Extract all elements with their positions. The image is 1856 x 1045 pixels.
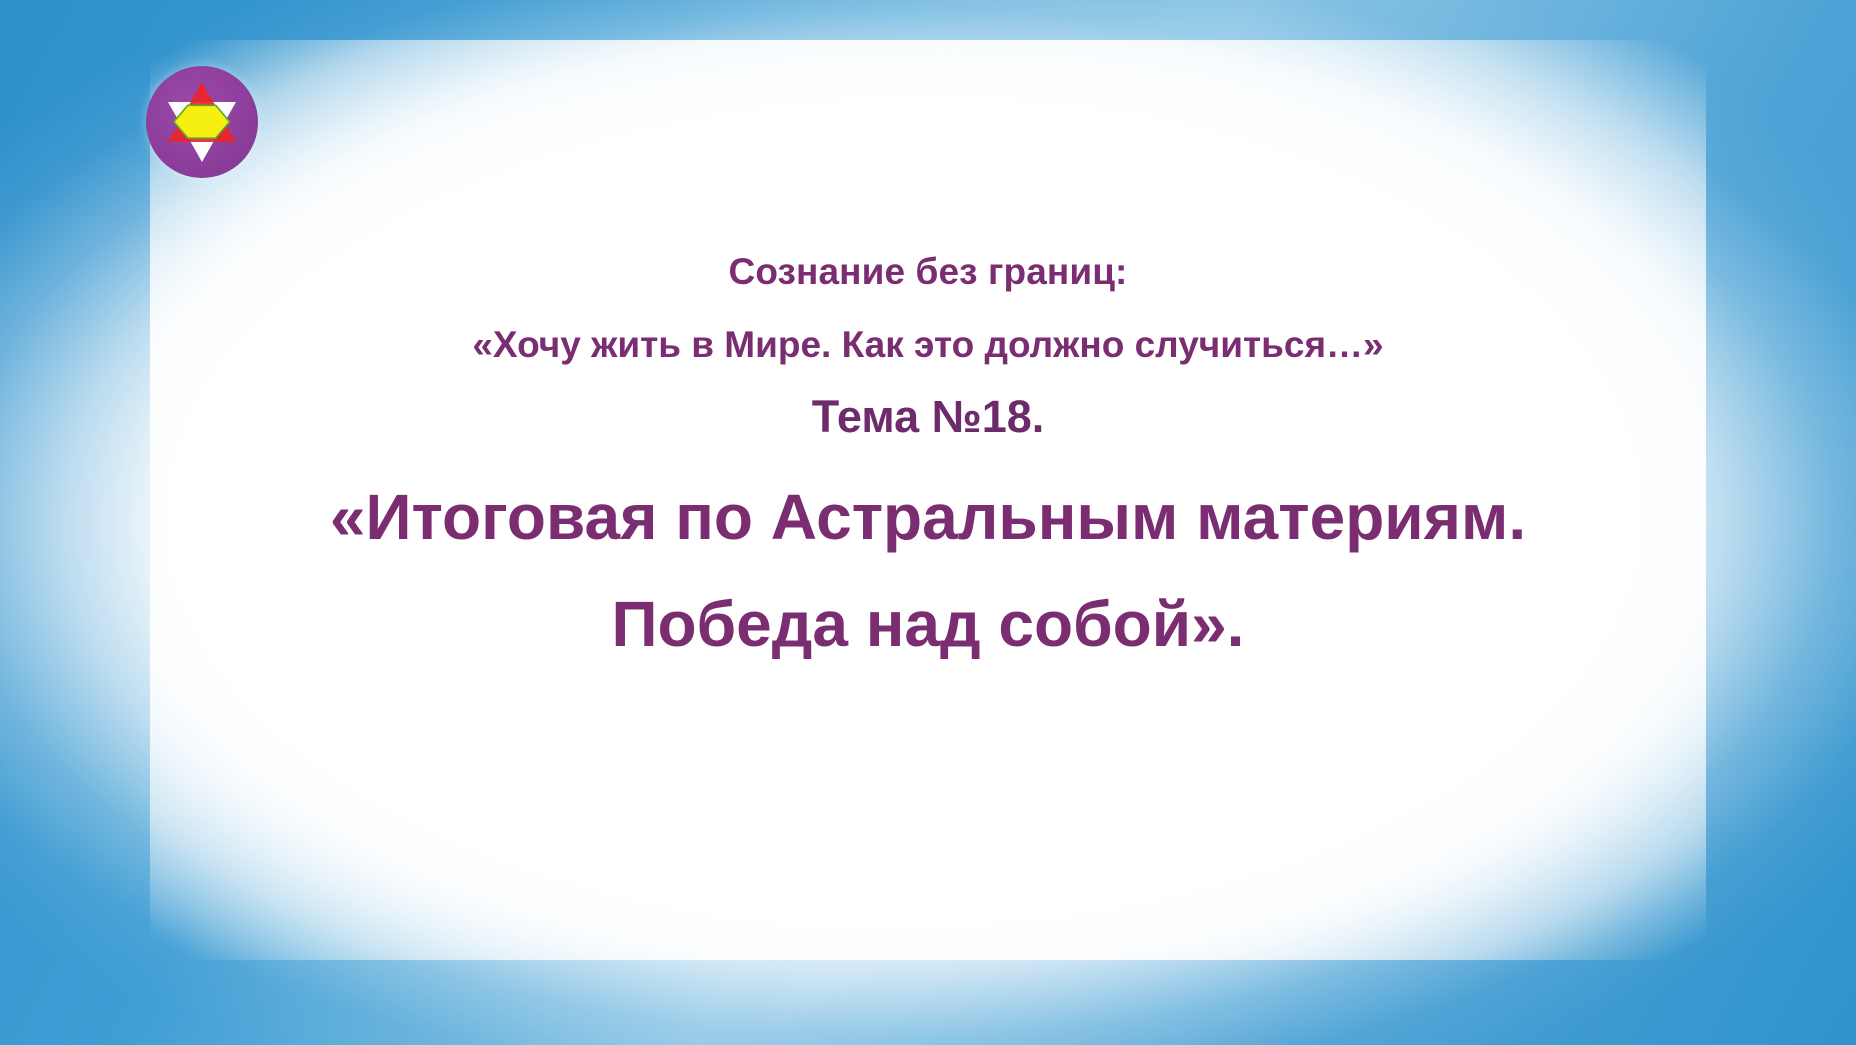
star-of-david-logo [146, 66, 258, 178]
subtitle-line-2: «Хочу жить в Мире. Как это должно случит… [0, 326, 1856, 363]
presentation-slide: Сознание без границ: «Хочу жить в Мире. … [0, 0, 1856, 1045]
topic-number-line: Тема №18. [0, 394, 1856, 439]
slide-title-line-1: «Итоговая по Астральным материям. [0, 485, 1856, 549]
subtitle-line-1: Сознание без границ: [0, 253, 1856, 290]
slide-title-line-2: Победа над собой». [0, 592, 1856, 656]
